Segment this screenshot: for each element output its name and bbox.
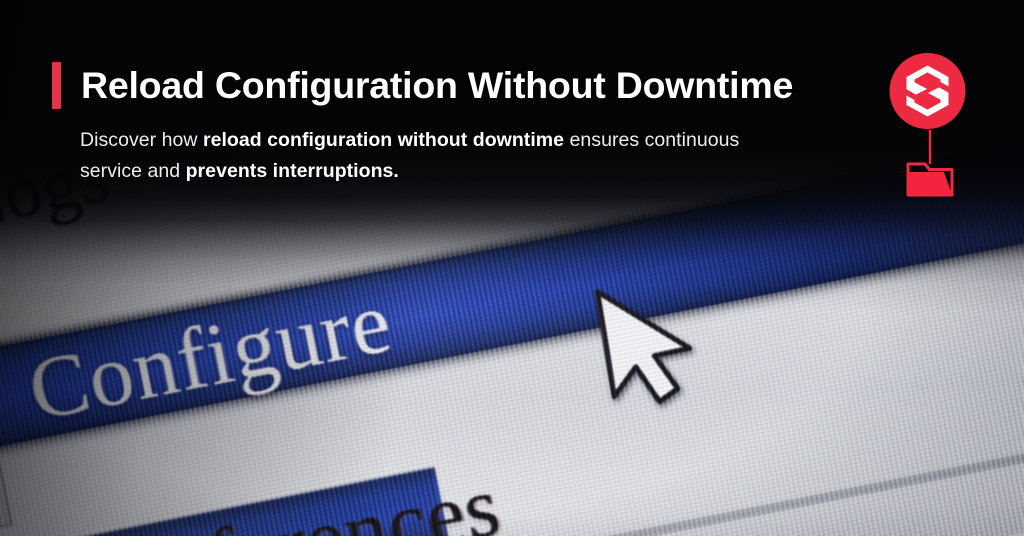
- headline-block: Reload Configuration Without Downtime: [52, 62, 793, 109]
- subtitle-emphasis-2: prevents interruptions.: [186, 160, 399, 182]
- subtitle-text-part-1: Discover how: [80, 129, 203, 151]
- folder-icon: [908, 164, 952, 195]
- subtitle-emphasis-1: reload configuration without downtime: [203, 129, 564, 151]
- page-subtitle: Discover how reload configuration withou…: [80, 125, 795, 187]
- brand-logo[interactable]: [884, 46, 976, 202]
- red-accent-bar: [52, 62, 61, 109]
- page-title: Reload Configuration Without Downtime: [81, 62, 793, 109]
- article-hero-banner: Logs Logs Configure Preferences Reload C…: [0, 0, 1024, 536]
- logo-circle-badge: [890, 53, 966, 129]
